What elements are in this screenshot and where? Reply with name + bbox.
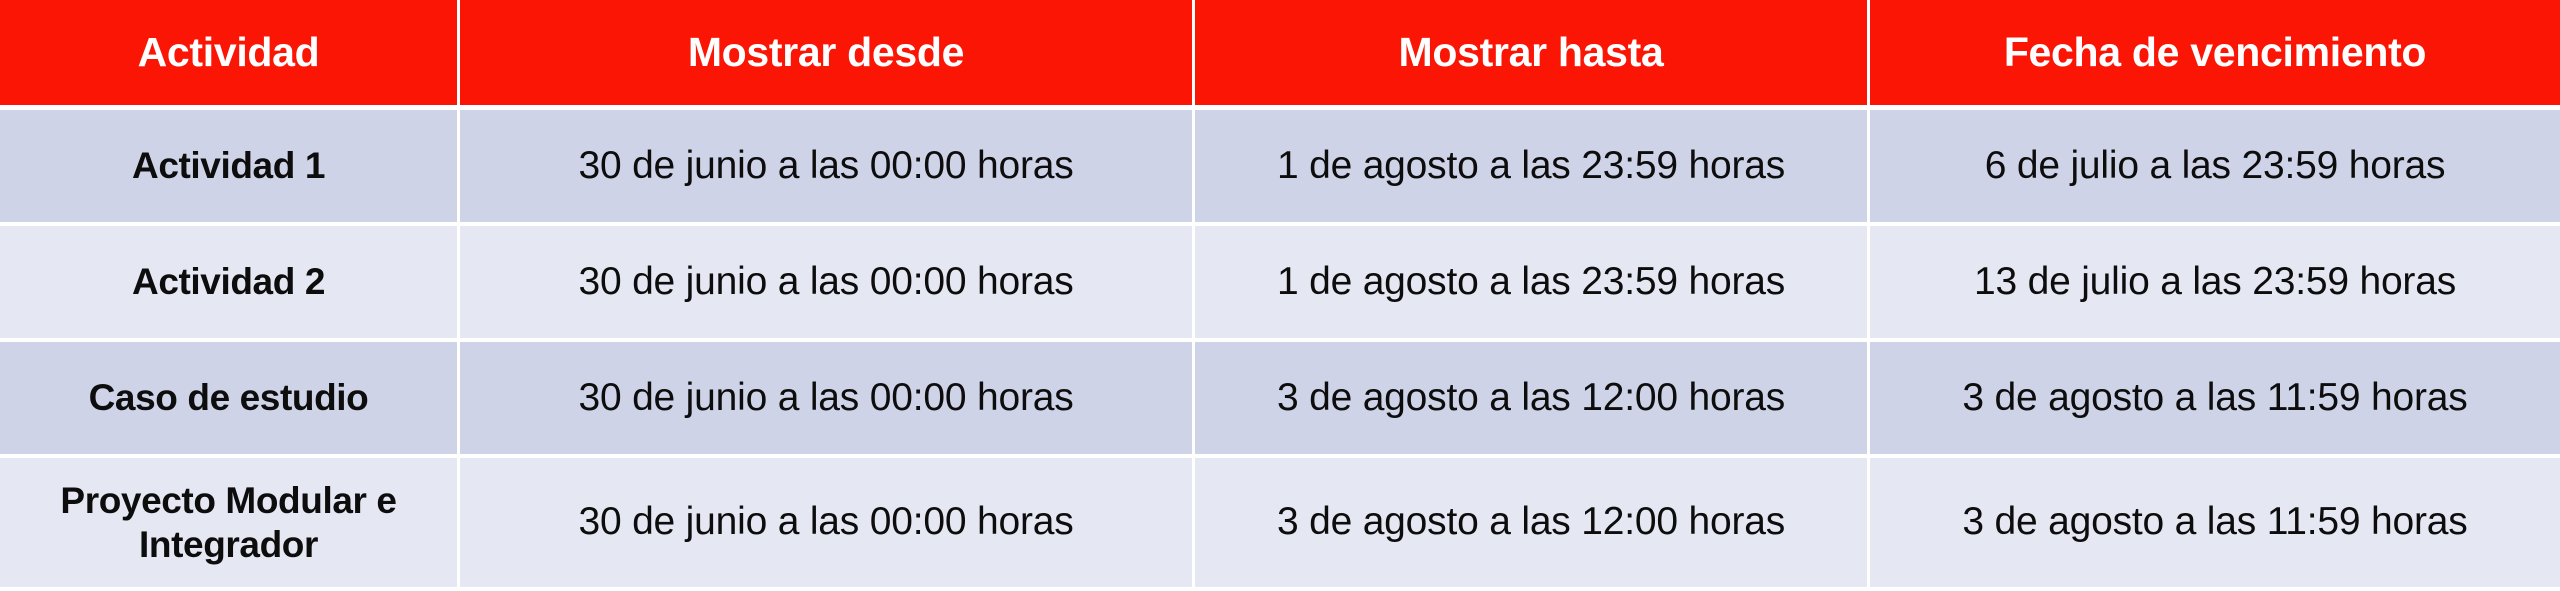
table-header-row: Actividad Mostrar desde Mostrar hasta Fe… xyxy=(0,0,2560,110)
table-row: Proyecto Modular e Integrador 30 de juni… xyxy=(0,458,2560,591)
cell-mostrar-desde: 30 de junio a las 00:00 horas xyxy=(460,110,1195,226)
cell-mostrar-desde: 30 de junio a las 00:00 horas xyxy=(460,226,1195,342)
activity-schedule-table: Actividad Mostrar desde Mostrar hasta Fe… xyxy=(0,0,2560,591)
cell-mostrar-hasta: 3 de agosto a las 12:00 horas xyxy=(1195,458,1870,591)
table-row: Actividad 2 30 de junio a las 00:00 hora… xyxy=(0,226,2560,342)
column-header-mostrar-desde: Mostrar desde xyxy=(460,0,1195,110)
cell-mostrar-hasta: 3 de agosto a las 12:00 horas xyxy=(1195,342,1870,458)
cell-actividad: Actividad 1 xyxy=(0,110,460,226)
cell-fecha-vencimiento: 3 de agosto a las 11:59 horas xyxy=(1870,342,2560,458)
table-header: Actividad Mostrar desde Mostrar hasta Fe… xyxy=(0,0,2560,110)
table-body: Actividad 1 30 de junio a las 00:00 hora… xyxy=(0,110,2560,591)
cell-fecha-vencimiento: 6 de julio a las 23:59 horas xyxy=(1870,110,2560,226)
cell-fecha-vencimiento: 13 de julio a las 23:59 horas xyxy=(1870,226,2560,342)
cell-actividad: Caso de estudio xyxy=(0,342,460,458)
column-header-fecha-de-vencimiento: Fecha de vencimiento xyxy=(1870,0,2560,110)
table-row: Caso de estudio 30 de junio a las 00:00 … xyxy=(0,342,2560,458)
table-row: Actividad 1 30 de junio a las 00:00 hora… xyxy=(0,110,2560,226)
cell-mostrar-desde: 30 de junio a las 00:00 horas xyxy=(460,342,1195,458)
column-header-actividad: Actividad xyxy=(0,0,460,110)
cell-actividad: Actividad 2 xyxy=(0,226,460,342)
cell-mostrar-desde: 30 de junio a las 00:00 horas xyxy=(460,458,1195,591)
cell-mostrar-hasta: 1 de agosto a las 23:59 horas xyxy=(1195,226,1870,342)
cell-actividad: Proyecto Modular e Integrador xyxy=(0,458,460,591)
cell-mostrar-hasta: 1 de agosto a las 23:59 horas xyxy=(1195,110,1870,226)
cell-fecha-vencimiento: 3 de agosto a las 11:59 horas xyxy=(1870,458,2560,591)
column-header-mostrar-hasta: Mostrar hasta xyxy=(1195,0,1870,110)
